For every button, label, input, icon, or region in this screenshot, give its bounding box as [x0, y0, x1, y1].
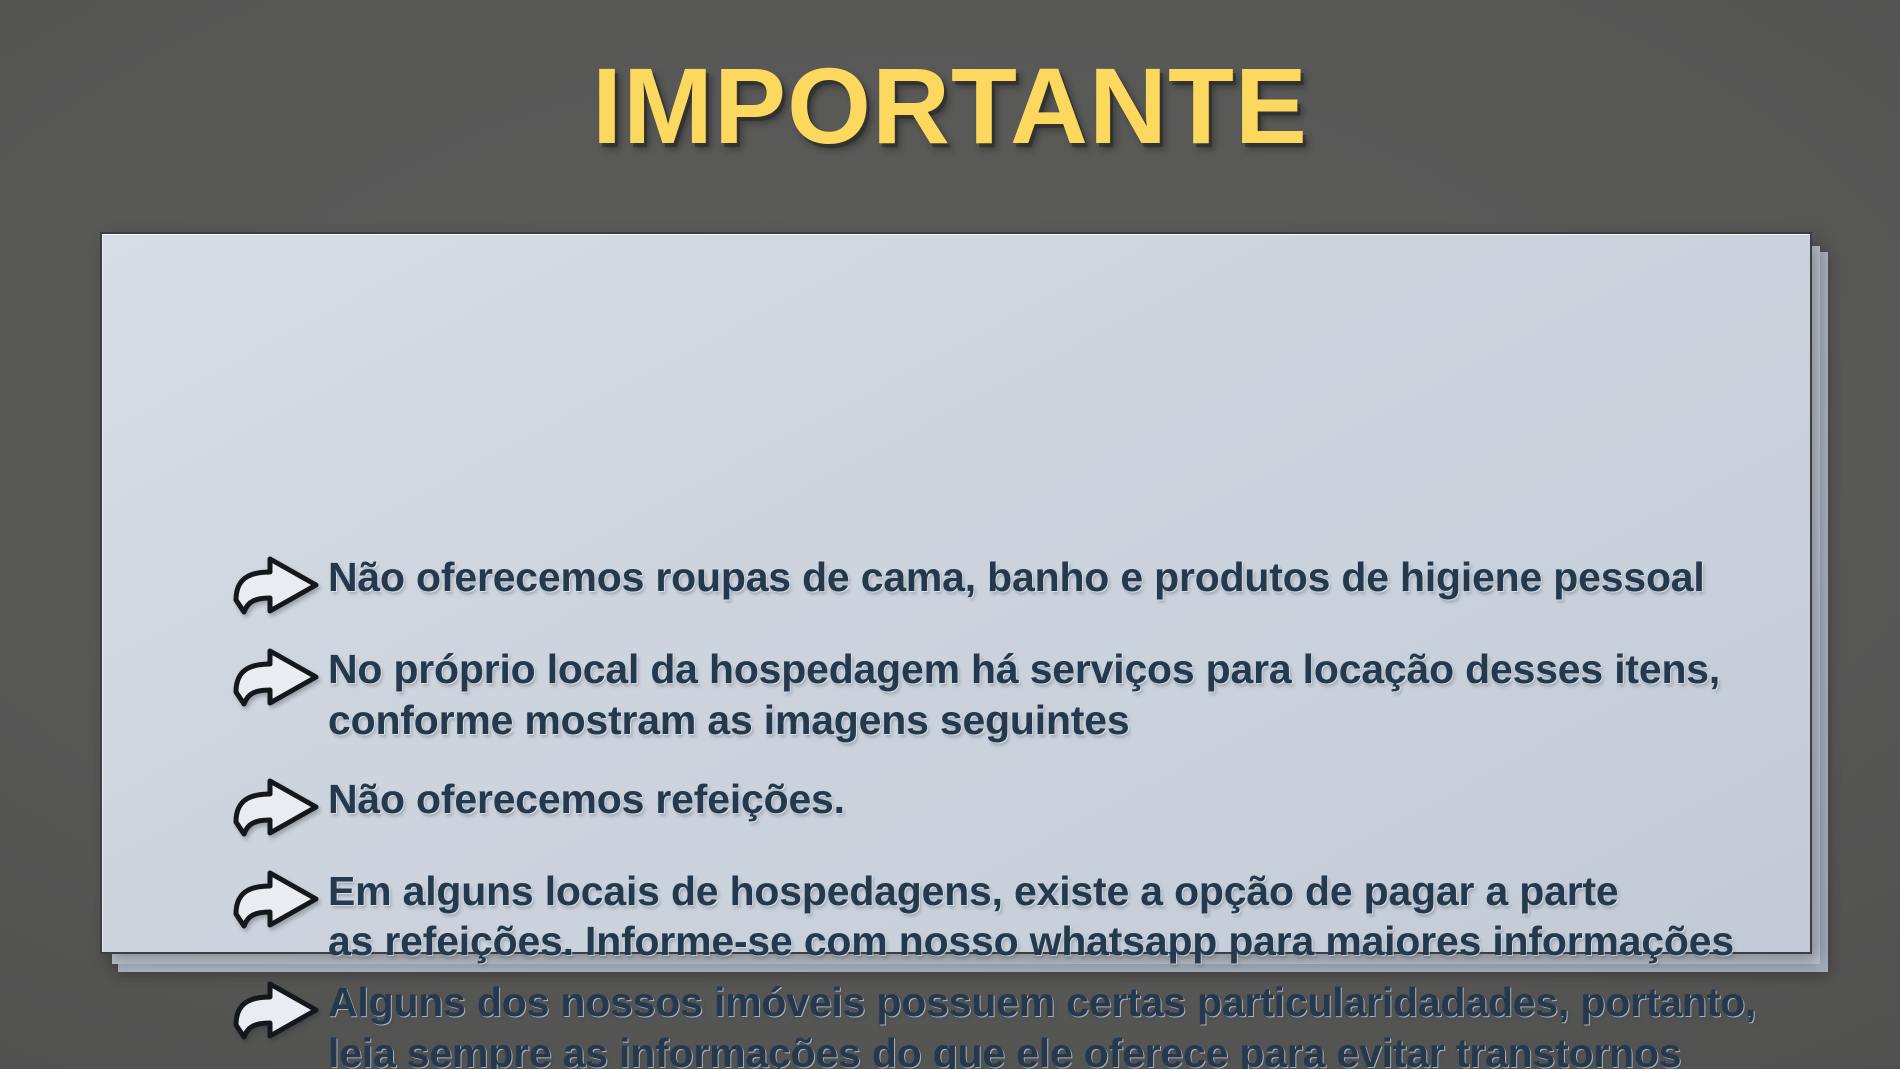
slide-canvas: IMPORTANTE Não oferecemos roupas de cama… [0, 0, 1900, 1069]
right-arrow-icon [230, 868, 322, 930]
list-item: Em alguns locais de hospedagens, existe … [230, 866, 1890, 968]
right-arrow-icon [230, 554, 322, 616]
page-title: IMPORTANTE [0, 48, 1900, 165]
list-item-text: Não oferecemos roupas de cama, banho e p… [328, 552, 1705, 603]
list-item-text: No próprio local da hospedagem há serviç… [328, 644, 1720, 746]
list-item: Não oferecemos roupas de cama, banho e p… [230, 552, 1890, 616]
bullet-list: Não oferecemos roupas de cama, banho e p… [230, 552, 1890, 1069]
list-item-text: Em alguns locais de hospedagens, existe … [328, 866, 1734, 968]
right-arrow-icon [230, 646, 322, 708]
list-item-text: Não oferecemos refeições. [328, 774, 845, 825]
list-item: Alguns dos nossos imóveis possuem certas… [230, 977, 1890, 1069]
list-item: Não oferecemos refeições. [230, 774, 1890, 838]
content-panel: Não oferecemos roupas de cama, banho e p… [100, 232, 1812, 954]
right-arrow-icon [230, 979, 322, 1041]
list-item-text: Alguns dos nossos imóveis possuem certas… [328, 977, 1756, 1069]
right-arrow-icon [230, 776, 322, 838]
list-item: No próprio local da hospedagem há serviç… [230, 644, 1890, 746]
